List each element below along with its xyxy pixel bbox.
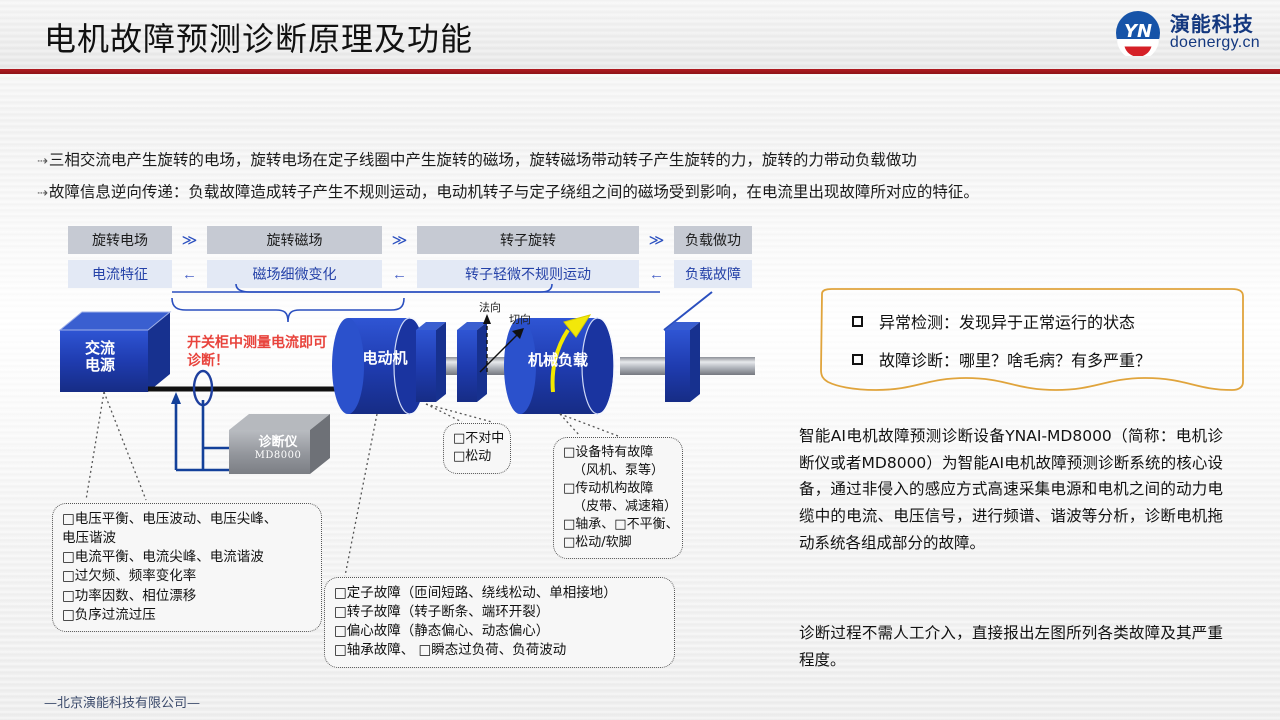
flow-sep-forward-1: ≫ (174, 226, 205, 254)
callout-item: □电流平衡、电流尖峰、电流谐波 (62, 548, 312, 567)
callout-item: （风机、泵等） (563, 462, 673, 480)
motor-label: 电动机 (352, 350, 418, 367)
flow-box-current-signature: 电流特征 (68, 260, 172, 288)
highlight-item-2: 故障诊断：哪里？啥毛病？有多严重？ (852, 347, 1248, 371)
yn-logo-icon: YN (1115, 10, 1161, 56)
flow-box-field-micro-change: 磁场细微变化 (207, 260, 382, 288)
callout-item: □传动机构故障 (563, 480, 673, 498)
callout-item: □设备特有故障 (563, 444, 673, 462)
process-flow-chart: 旋转电场 ≫ 旋转磁场 ≫ 转子旋转 ≫ 负载做功 电流特征 ← 磁场细微变化 … (68, 226, 752, 292)
highlight-item-1: 异常检测：发现异于正常运行的状态 (852, 309, 1248, 333)
flow-box-rotating-field: 旋转电场 (68, 226, 172, 254)
callout-item: □松动 (453, 448, 501, 466)
load-coupling-right (665, 322, 700, 402)
flow-box-load-fault: 负载故障 (674, 260, 752, 288)
callout-misalignment: □不对中 □松动 (443, 423, 511, 474)
callout-power-quality-faults: □电压平衡、电压波动、电压尖峰、 电压谐波 □电流平衡、电流尖峰、电流谐波 □过… (52, 503, 322, 632)
logo-domain: doenergy.cn (1170, 35, 1260, 52)
flow-box-rotor-irregular-motion: 转子轻微不规则运动 (417, 260, 639, 288)
callout-item: □过欠频、频率变化率 (62, 567, 312, 586)
flow-box-rotor-rotation: 转子旋转 (417, 226, 639, 254)
checkbox-square-icon (852, 316, 863, 327)
callout-equipment-faults: □设备特有故障 （风机、泵等） □传动机构故障 （皮带、减速箱） □轴承、□不平… (553, 437, 683, 559)
intermediate-coupling (457, 322, 487, 402)
callout-item: □负序过流过压 (62, 606, 312, 625)
company-logo: YN 演能科技 doenergy.cn (1115, 10, 1260, 56)
dashed-arrow-icon: ⇢ (37, 154, 46, 169)
header-accent-bar (0, 69, 1280, 74)
slide-header: 电机故障预测诊断原理及功能 YN 演能科技 doenergy.cn (0, 0, 1280, 72)
callout-motor-faults: □定子故障（匝间短路、绕线松动、单相接地） □转子故障（转子断条、端环开裂） □… (324, 577, 675, 668)
highlight-item-2-text: 故障诊断：哪里？啥毛病？有多严重？ (879, 347, 1151, 371)
flow-sep-reverse-3: ← (641, 260, 672, 288)
analyzer-model: MD8000 (232, 450, 324, 461)
callout-item: □轴承、□不平衡、 (563, 516, 673, 534)
intro-bullet-1-text: 三相交流电产生旋转的电场，旋转电场在定子线圈中产生旋转的磁场，旋转磁场带动转子产… (49, 151, 917, 169)
flow-sep-forward-2: ≫ (384, 226, 415, 254)
diagnosis-process-paragraph: 诊断过程不需人工介入，直接报出左图所列各类故障及其严重程度。 (799, 620, 1223, 673)
callout-item: （皮带、减速箱） (563, 498, 673, 516)
callout-item: □定子故障（匝间短路、绕线松动、单相接地） (334, 584, 665, 603)
callout-item: □松动/软脚 (563, 534, 673, 552)
flow-box-rotating-magnetic-field: 旋转磁场 (207, 226, 382, 254)
flow-box-load-work: 负载做功 (674, 226, 752, 254)
dashed-arrow-icon: ⇢ (37, 186, 46, 201)
analyzer-name: 诊断仪 (232, 431, 324, 450)
intro-bullet-1: ⇢三相交流电产生旋转的电场，旋转电场在定子线圈中产生旋转的磁场，旋转磁场带动转子… (37, 148, 917, 170)
tangential-direction-label: 切向 (509, 311, 531, 327)
callout-item: □转子故障（转子断条、端环开裂） (334, 603, 665, 622)
product-description-paragraph: 智能AI电机故障预测诊断设备YNAI-MD8000（简称：电机诊断仪或者MD80… (799, 423, 1223, 556)
ac-source-label: 交流 电源 (62, 340, 138, 375)
ct-sensor-icon (194, 371, 212, 405)
callout-item: □功率因数、相位漂移 (62, 587, 312, 606)
analyzer-label: 诊断仪 MD8000 (232, 431, 324, 461)
page-title: 电机故障预测诊断原理及功能 (44, 14, 473, 60)
normal-direction-label: 法向 (479, 299, 501, 315)
mechanical-load-label: 机械负载 (512, 352, 604, 369)
svg-text:YN: YN (1124, 21, 1152, 42)
callout-item: □不对中 (453, 430, 501, 448)
checkbox-square-icon (852, 354, 863, 365)
analyzer-connection-lines (171, 392, 230, 470)
callout-item: □偏心故障（静态偏心、动态偏心） (334, 622, 665, 641)
intro-bullet-2: ⇢故障信息逆向传递：负载故障造成转子产生不规则运动，电动机转子与定子绕组之间的磁… (37, 180, 979, 202)
flow-sep-forward-3: ≫ (641, 226, 672, 254)
callout-item: 电压谐波 (62, 529, 312, 548)
callout-item: □轴承故障、 □瞬态过负荷、负荷波动 (334, 641, 665, 660)
load-pointer-arrow (664, 292, 712, 340)
intro-bullet-2-text: 故障信息逆向传递：负载故障造成转子产生不规则运动，电动机转子与定子绕组之间的磁场… (49, 183, 979, 201)
highlight-panel: 异常检测：发现异于正常运行的状态 故障诊断：哪里？啥毛病？有多严重？ (816, 286, 1248, 394)
motor-coupling (416, 322, 446, 402)
callout-item: □电压平衡、电压波动、电压尖峰、 (62, 510, 312, 529)
footer-company: —北京演能科技有限公司— (44, 692, 200, 711)
flow-row-forward: 旋转电场 ≫ 旋转磁场 ≫ 转子旋转 ≫ 负载做功 (68, 226, 752, 254)
flow-to-motor-brace (172, 298, 404, 322)
flow-sep-reverse-1: ← (174, 260, 205, 288)
logo-company-cn: 演能科技 (1170, 14, 1260, 35)
measure-note: 开关柜中测量电流即可诊断！ (187, 335, 337, 370)
highlight-item-1-text: 异常检测：发现异于正常运行的状态 (879, 309, 1135, 333)
flow-sep-reverse-2: ← (384, 260, 415, 288)
flow-row-reverse: 电流特征 ← 磁场细微变化 ← 转子轻微不规则运动 ← 负载故障 (68, 260, 752, 288)
